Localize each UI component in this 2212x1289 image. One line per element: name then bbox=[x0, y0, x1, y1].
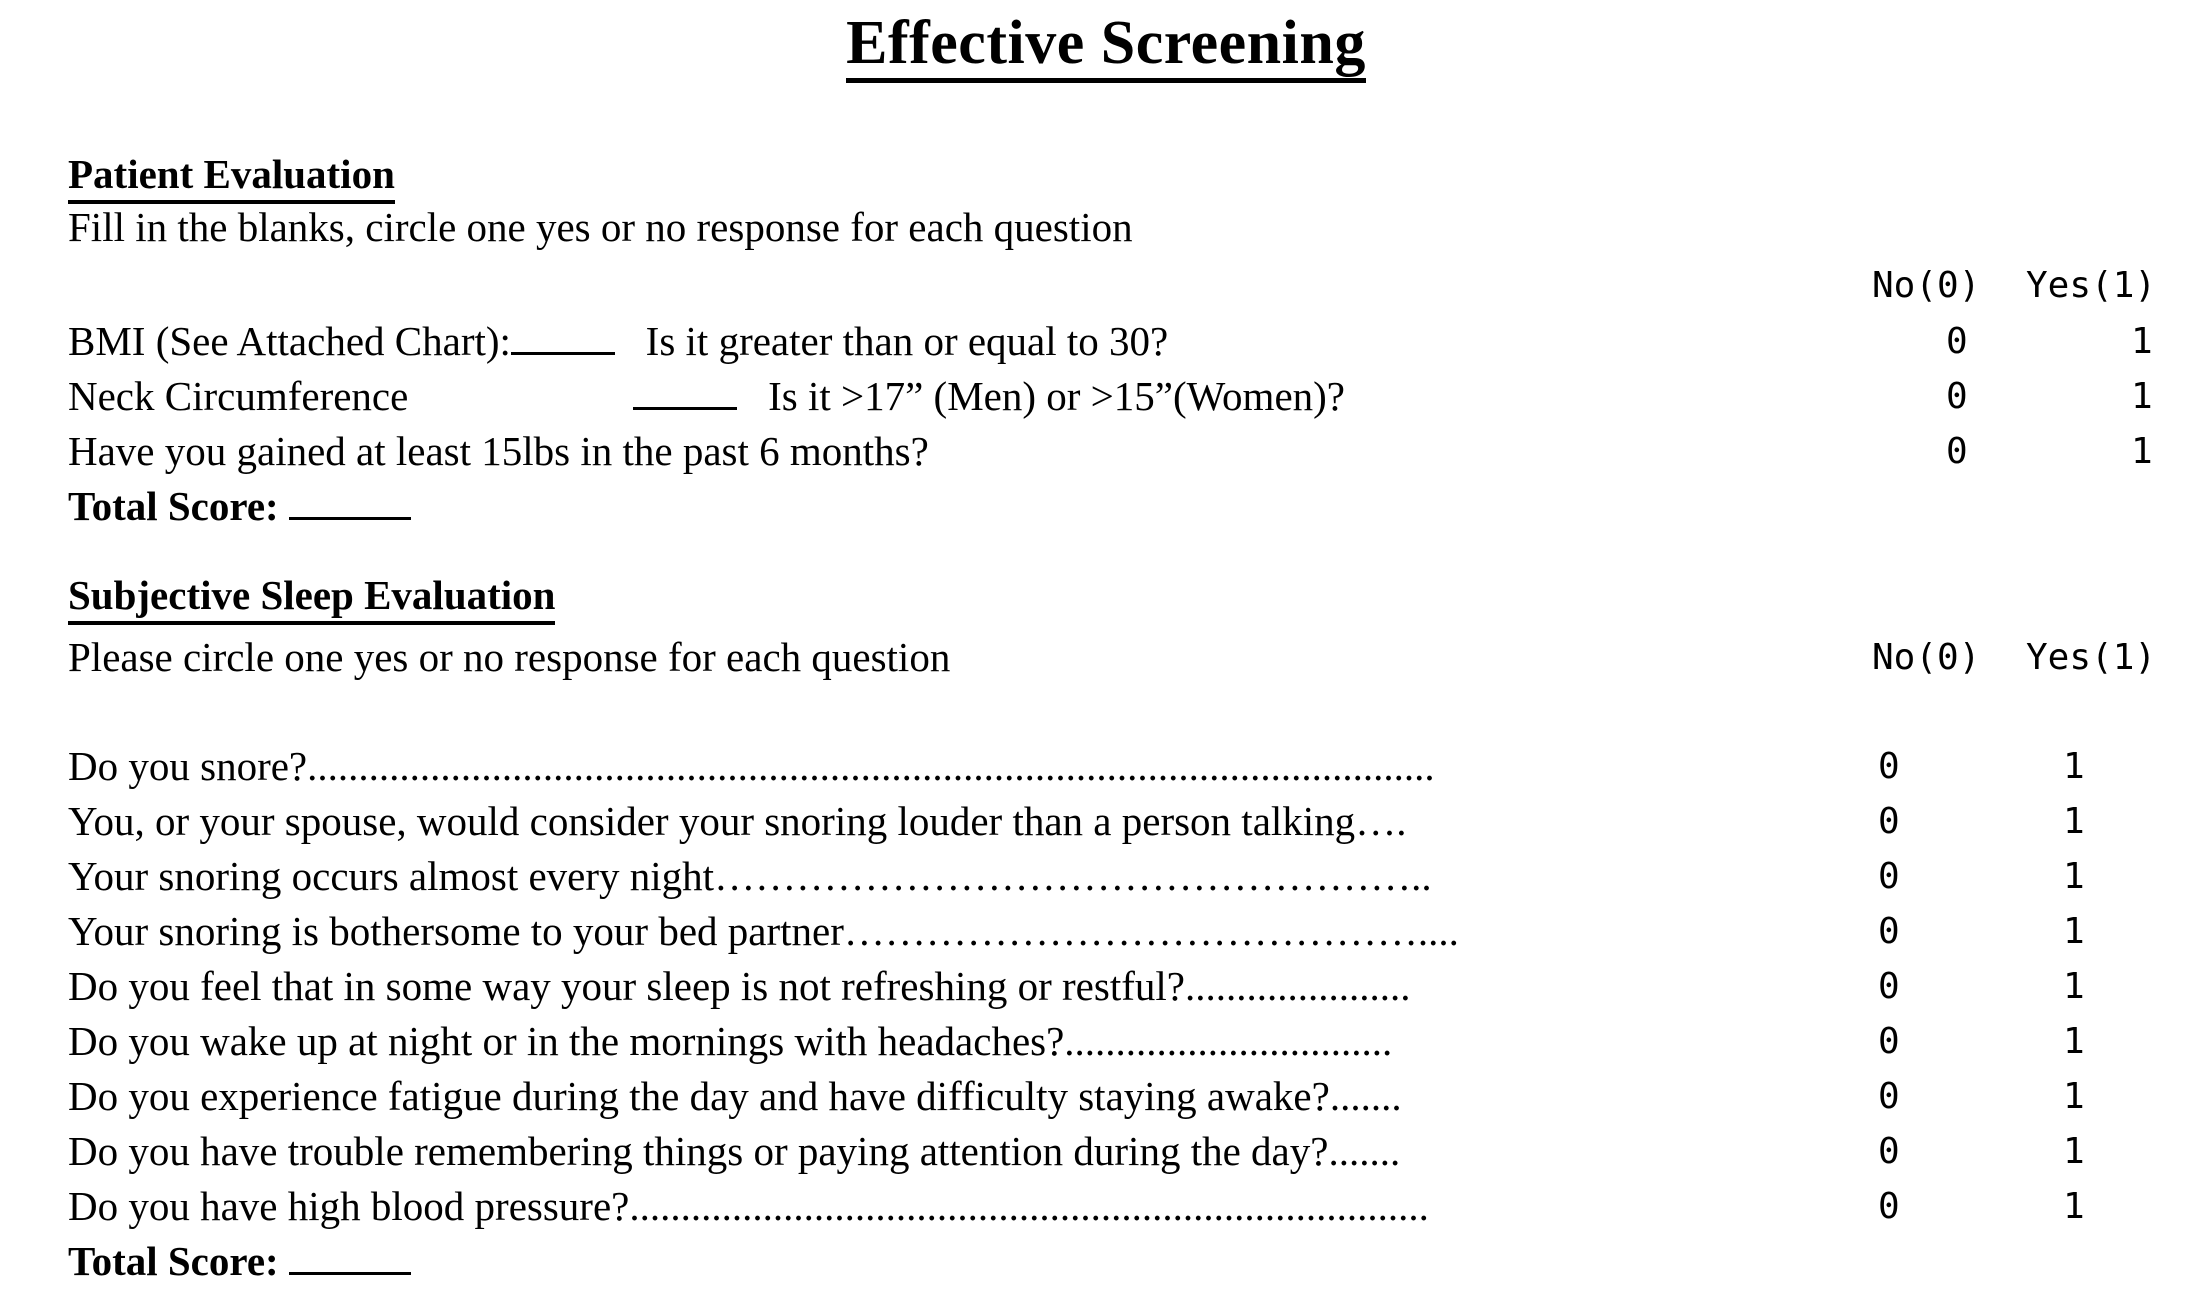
sleep-question-6-no-option[interactable]: 0 bbox=[1878, 1014, 1900, 1069]
list-item: Your snoring is bothersome to your bed p… bbox=[0, 904, 2212, 959]
patient-evaluation-row-weight-gain-yes-option[interactable]: 1 bbox=[2131, 424, 2153, 479]
sleep-question-2-yes-option[interactable]: 1 bbox=[2063, 794, 2085, 849]
sleep-evaluation-instruction-row: Please circle one yes or no response for… bbox=[0, 630, 2212, 685]
sleep-question-1-text: Do you snore? bbox=[68, 743, 307, 789]
sleep-evaluation-total-score-blank[interactable] bbox=[289, 1272, 411, 1275]
sleep-question-4-yes-option[interactable]: 1 bbox=[2063, 904, 2085, 959]
sleep-question-2-label: You, or your spouse, would consider your… bbox=[68, 794, 1406, 849]
sleep-question-9-label: Do you have high blood pressure?........… bbox=[68, 1179, 1429, 1234]
patient-evaluation-total-score-label: Total Score: bbox=[68, 483, 279, 529]
sleep-question-4-label: Your snoring is bothersome to your bed p… bbox=[68, 904, 1459, 959]
list-item: Do you wake up at night or in the mornin… bbox=[0, 1014, 2212, 1069]
page-title: Effective Screening bbox=[0, 0, 2212, 83]
sleep-evaluation-section-heading: Subjective Sleep Evaluation bbox=[68, 569, 555, 625]
sleep-question-3-leader: …………………………………………….. bbox=[714, 853, 1432, 899]
sleep-question-2-no-option[interactable]: 0 bbox=[1878, 794, 1900, 849]
sleep-question-5-no-option[interactable]: 0 bbox=[1878, 959, 1900, 1014]
sleep-question-7-leader: ....... bbox=[1330, 1073, 1402, 1119]
sleep-question-6-leader: ................................ bbox=[1064, 1018, 1392, 1064]
page-title-text: Effective Screening bbox=[846, 12, 1366, 83]
sleep-evaluation-total-score: Total Score: bbox=[68, 1234, 411, 1289]
sleep-question-8-yes-option[interactable]: 1 bbox=[2063, 1124, 2085, 1179]
sleep-question-5-leader: ...................... bbox=[1185, 963, 1411, 1009]
patient-evaluation-section-heading: Patient Evaluation bbox=[68, 148, 395, 204]
neck-value-blank[interactable] bbox=[633, 407, 737, 410]
sleep-question-8-text: Do you have trouble remembering things o… bbox=[68, 1128, 1328, 1174]
patient-evaluation-row-bmi-no-option[interactable]: 0 bbox=[1946, 314, 1968, 369]
sleep-question-9-text: Do you have high blood pressure? bbox=[68, 1183, 629, 1229]
patient-evaluation-row-bmi: BMI (See Attached Chart): Is it greater … bbox=[68, 314, 2212, 369]
patient-evaluation-row-bmi-label: BMI (See Attached Chart): Is it greater … bbox=[68, 314, 1168, 369]
sleep-evaluation-yes-column-header: Yes(1) bbox=[2026, 630, 2156, 685]
sleep-question-2-leader: …. bbox=[1355, 798, 1406, 844]
sleep-question-1-yes-option[interactable]: 1 bbox=[2063, 739, 2085, 794]
sleep-question-1-leader: ........................................… bbox=[307, 743, 1435, 789]
list-item: You, or your spouse, would consider your… bbox=[0, 794, 2212, 849]
sleep-question-2-text: You, or your spouse, would consider your… bbox=[68, 798, 1355, 844]
list-item: Do you snore?...........................… bbox=[0, 739, 2212, 794]
sleep-question-3-yes-option[interactable]: 1 bbox=[2063, 849, 2085, 904]
sleep-question-7-text: Do you experience fatigue during the day… bbox=[68, 1073, 1330, 1119]
patient-evaluation-row-weight-gain: Have you gained at least 15lbs in the pa… bbox=[68, 424, 2212, 479]
sleep-question-6-text: Do you wake up at night or in the mornin… bbox=[68, 1018, 1064, 1064]
list-item: Do you have trouble remembering things o… bbox=[0, 1124, 2212, 1179]
patient-evaluation-row-weight-gain-label: Have you gained at least 15lbs in the pa… bbox=[68, 424, 929, 479]
patient-evaluation-total-score: Total Score: bbox=[68, 479, 411, 534]
screening-form-page: Effective Screening Patient Evaluation F… bbox=[0, 0, 2212, 1280]
list-item: Do you feel that in some way your sleep … bbox=[0, 959, 2212, 1014]
sleep-question-9-yes-option[interactable]: 1 bbox=[2063, 1179, 2085, 1234]
neck-label-before-blank: Neck Circumference bbox=[68, 373, 408, 419]
sleep-question-6-label: Do you wake up at night or in the mornin… bbox=[68, 1014, 1392, 1069]
list-item: Do you experience fatigue during the day… bbox=[0, 1069, 2212, 1124]
sleep-evaluation-heading-text: Subjective Sleep Evaluation bbox=[68, 569, 555, 625]
sleep-question-3-label: Your snoring occurs almost every night……… bbox=[68, 849, 1432, 904]
sleep-question-9-leader: ........................................… bbox=[629, 1183, 1429, 1229]
sleep-question-5-text: Do you feel that in some way your sleep … bbox=[68, 963, 1185, 1009]
bmi-label-after-blank: Is it greater than or equal to 30? bbox=[646, 318, 1169, 364]
sleep-question-6-yes-option[interactable]: 1 bbox=[2063, 1014, 2085, 1069]
sleep-evaluation-instruction: Please circle one yes or no response for… bbox=[68, 630, 950, 685]
neck-label-after-blank: Is it >17” (Men) or >15”(Women)? bbox=[768, 373, 1345, 419]
bmi-value-blank[interactable] bbox=[511, 352, 615, 355]
sleep-question-3-no-option[interactable]: 0 bbox=[1878, 849, 1900, 904]
sleep-evaluation-no-column-header: No(0) bbox=[1872, 630, 1980, 685]
patient-evaluation-total-score-blank[interactable] bbox=[289, 517, 411, 520]
patient-evaluation-row-neck-label: Neck Circumference Is it >17” (Men) or >… bbox=[68, 369, 1345, 424]
sleep-question-4-text: Your snoring is bothersome to your bed p… bbox=[68, 908, 844, 954]
sleep-question-1-no-option[interactable]: 0 bbox=[1878, 739, 1900, 794]
patient-evaluation-row-neck-no-option[interactable]: 0 bbox=[1946, 369, 1968, 424]
sleep-question-1-label: Do you snore?...........................… bbox=[68, 739, 1435, 794]
patient-evaluation-column-headers: No(0) Yes(1) bbox=[0, 258, 2212, 313]
patient-evaluation-row-neck-yes-option[interactable]: 1 bbox=[2131, 369, 2153, 424]
list-item: Do you have high blood pressure?........… bbox=[0, 1179, 2212, 1234]
sleep-question-7-label: Do you experience fatigue during the day… bbox=[68, 1069, 1402, 1124]
sleep-question-8-label: Do you have trouble remembering things o… bbox=[68, 1124, 1400, 1179]
sleep-evaluation-total-score-label: Total Score: bbox=[68, 1238, 279, 1284]
bmi-label-before-blank: BMI (See Attached Chart): bbox=[68, 318, 511, 364]
patient-evaluation-row-weight-gain-no-option[interactable]: 0 bbox=[1946, 424, 1968, 479]
sleep-question-9-no-option[interactable]: 0 bbox=[1878, 1179, 1900, 1234]
sleep-question-7-no-option[interactable]: 0 bbox=[1878, 1069, 1900, 1124]
sleep-question-3-text: Your snoring occurs almost every night bbox=[68, 853, 714, 899]
patient-evaluation-instruction: Fill in the blanks, circle one yes or no… bbox=[68, 200, 1133, 255]
patient-evaluation-row-neck: Neck Circumference Is it >17” (Men) or >… bbox=[68, 369, 2212, 424]
sleep-question-5-yes-option[interactable]: 1 bbox=[2063, 959, 2085, 1014]
sleep-evaluation-question-list: Do you snore?...........................… bbox=[0, 739, 2212, 1234]
patient-evaluation-row-bmi-yes-option[interactable]: 1 bbox=[2131, 314, 2153, 369]
sleep-question-7-yes-option[interactable]: 1 bbox=[2063, 1069, 2085, 1124]
sleep-question-5-label: Do you feel that in some way your sleep … bbox=[68, 959, 1410, 1014]
sleep-question-8-no-option[interactable]: 0 bbox=[1878, 1124, 1900, 1179]
sleep-question-4-no-option[interactable]: 0 bbox=[1878, 904, 1900, 959]
patient-evaluation-heading-text: Patient Evaluation bbox=[68, 148, 395, 204]
sleep-question-8-leader: ....... bbox=[1328, 1128, 1400, 1174]
sleep-question-4-leader: …………………………………….... bbox=[844, 908, 1459, 954]
list-item: Your snoring occurs almost every night……… bbox=[0, 849, 2212, 904]
patient-evaluation-no-column-header: No(0) bbox=[1872, 258, 1980, 313]
patient-evaluation-yes-column-header: Yes(1) bbox=[2026, 258, 2156, 313]
